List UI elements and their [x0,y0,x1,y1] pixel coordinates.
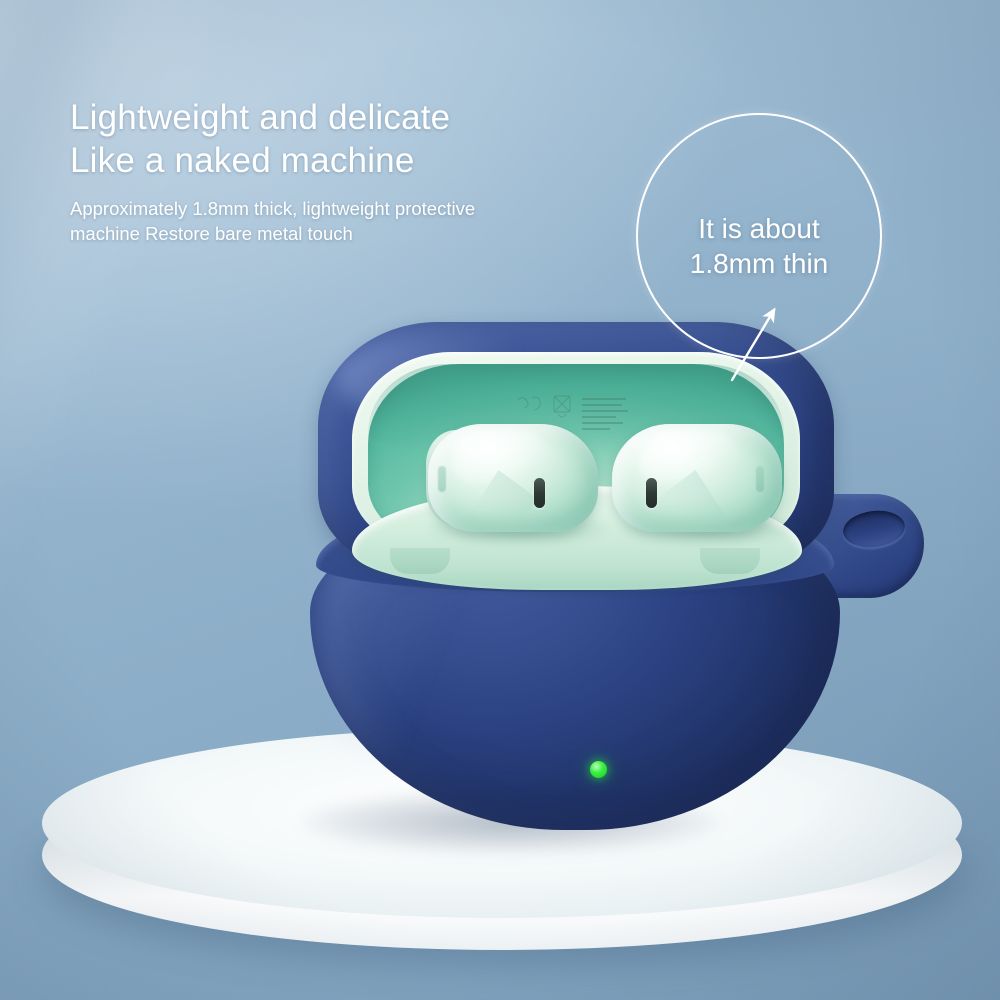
subtitle-line-1: Approximately 1.8mm thick, lightweight p… [70,196,630,221]
headline-line-1: Lightweight and delicate [70,96,630,139]
callout-line-1: It is about [636,211,882,246]
headline-line-2: Like a naked machine [70,139,630,182]
callout-line-2: 1.8mm thin [636,246,882,281]
marketing-copy-block: Lightweight and delicate Like a naked ma… [70,96,630,246]
product-marketing-image: Lightweight and delicate Like a naked ma… [0,0,1000,1000]
subtitle-block: Approximately 1.8mm thick, lightweight p… [70,196,630,246]
callout-text-block: It is about 1.8mm thin [636,211,882,281]
subtitle-line-2: machine Restore bare metal touch [70,221,630,246]
callout-arrow-icon [716,288,836,398]
